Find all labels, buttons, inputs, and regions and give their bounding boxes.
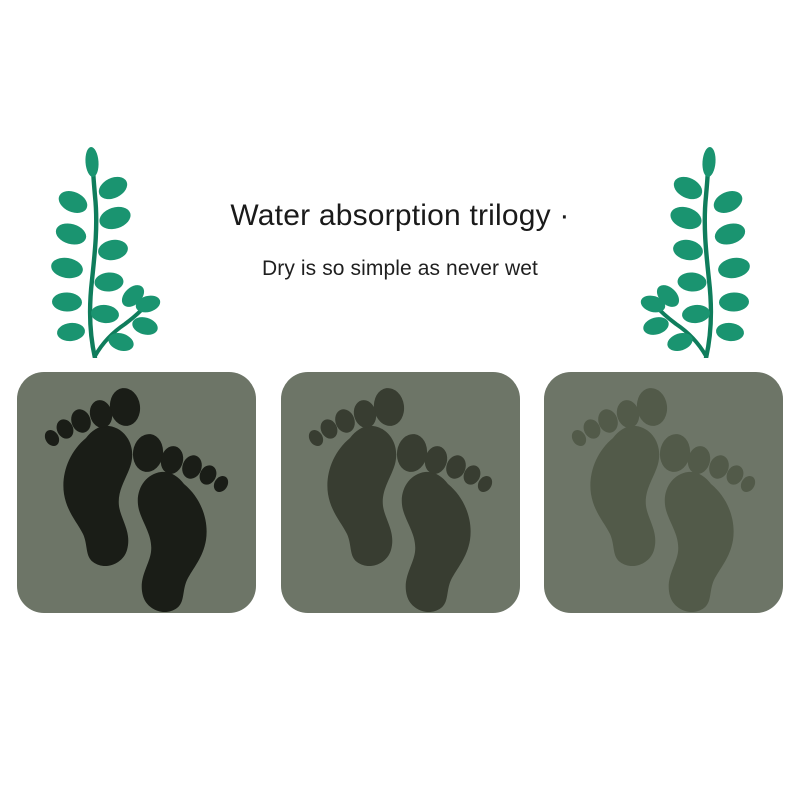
promo-banner: Water absorption trilogy · Dry is so sim… <box>0 0 800 800</box>
footprint-panel-2 <box>281 372 520 613</box>
leaf-branch-icon <box>626 146 756 358</box>
footprint-panel-row <box>17 372 783 613</box>
leaf-branch-left <box>45 146 175 358</box>
leaf-branch-right <box>626 146 756 358</box>
footprints-icon <box>281 372 520 613</box>
footprint-panel-3 <box>544 372 783 613</box>
footprints-icon <box>544 372 783 613</box>
footprints-icon <box>17 372 256 613</box>
leaf-branch-icon <box>45 146 175 358</box>
footprint-panel-1 <box>17 372 256 613</box>
